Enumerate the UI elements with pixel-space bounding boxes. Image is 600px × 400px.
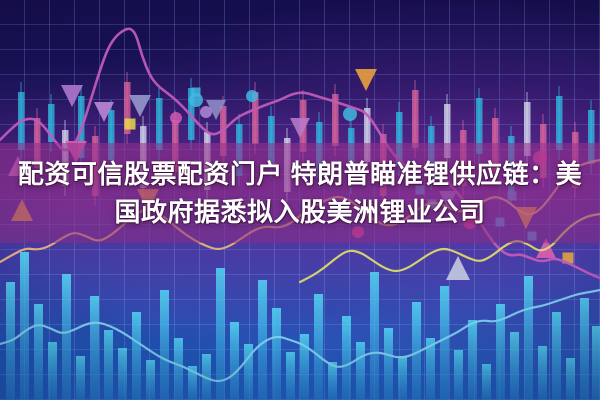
- chart-banner: 配资可信股票配资门户 特朗普瞄准锂供应链：美 国政府据悉拟入股美洲锂业公司: [0, 0, 600, 400]
- headline-line-1: 配资可信股票配资门户 特朗普瞄准锂供应链：美: [18, 157, 582, 191]
- headline-line-2: 国政府据悉拟入股美洲锂业公司: [114, 195, 485, 229]
- series-volume-trend-cyan: [0, 290, 600, 381]
- headline: 配资可信股票配资门户 特朗普瞄准锂供应链：美 国政府据悉拟入股美洲锂业公司: [0, 143, 600, 243]
